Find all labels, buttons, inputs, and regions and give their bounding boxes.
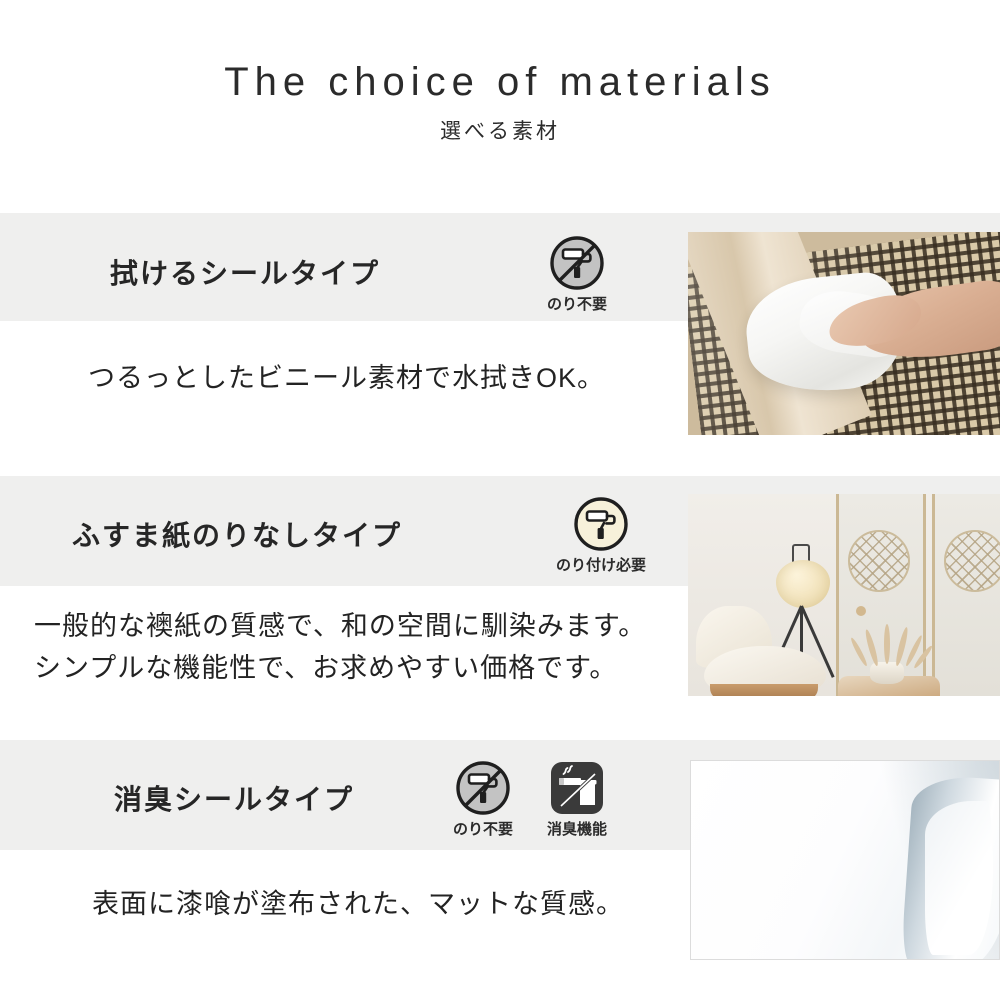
section-3-description: 表面に漆喰が塗布された、マットな質感。: [92, 884, 624, 926]
materials-choice-page: The choice of materials 選べる素材 拭けるシールタイプ: [0, 0, 1000, 1000]
section-2-title: ふすま紙のりなしタイプ: [72, 514, 402, 554]
badge-no-glue: のり不要: [446, 761, 520, 839]
no-glue-roller-icon: [550, 236, 604, 290]
page-subtitle: 選べる素材: [0, 115, 1000, 145]
section-2-photo: [688, 494, 1000, 696]
badge-no-glue: のり不要: [540, 236, 614, 314]
section-1-badges: のり不要: [540, 236, 614, 314]
section-3-title: 消臭シールタイプ: [114, 778, 354, 818]
glue-roller-icon: [574, 497, 628, 551]
deodorizing-icon: [550, 761, 604, 815]
section-2-description-line-1: 一般的な襖紙の質感で、和の空間に馴染みます。: [34, 606, 646, 648]
no-glue-roller-icon: [456, 761, 510, 815]
section-1-photo: [688, 232, 1000, 435]
section-3-badges: のり不要 消臭機能: [446, 761, 614, 839]
badge-label: 消臭機能: [547, 818, 607, 839]
section-1-title: 拭けるシールタイプ: [110, 252, 380, 292]
badge-glue-required: のり付け必要: [546, 497, 656, 575]
page-header: The choice of materials 選べる素材: [0, 0, 1000, 200]
section-3-photo: [690, 760, 1000, 960]
badge-label: のり不要: [547, 293, 607, 314]
section-2-description: 一般的な襖紙の質感で、和の空間に馴染みます。 シンプルな機能性で、お求めやすい価…: [34, 606, 646, 690]
badge-label: のり付け必要: [556, 554, 646, 575]
page-title: The choice of materials: [0, 60, 1000, 105]
badge-label: のり不要: [453, 818, 513, 839]
badge-deodorizing: 消臭機能: [540, 761, 614, 839]
section-2-badges: のり付け必要: [546, 497, 656, 575]
section-1-description: つるっとしたビニール素材で水拭きOK。: [88, 358, 605, 400]
section-2-description-line-2: シンプルな機能性で、お求めやすい価格です。: [34, 648, 646, 690]
